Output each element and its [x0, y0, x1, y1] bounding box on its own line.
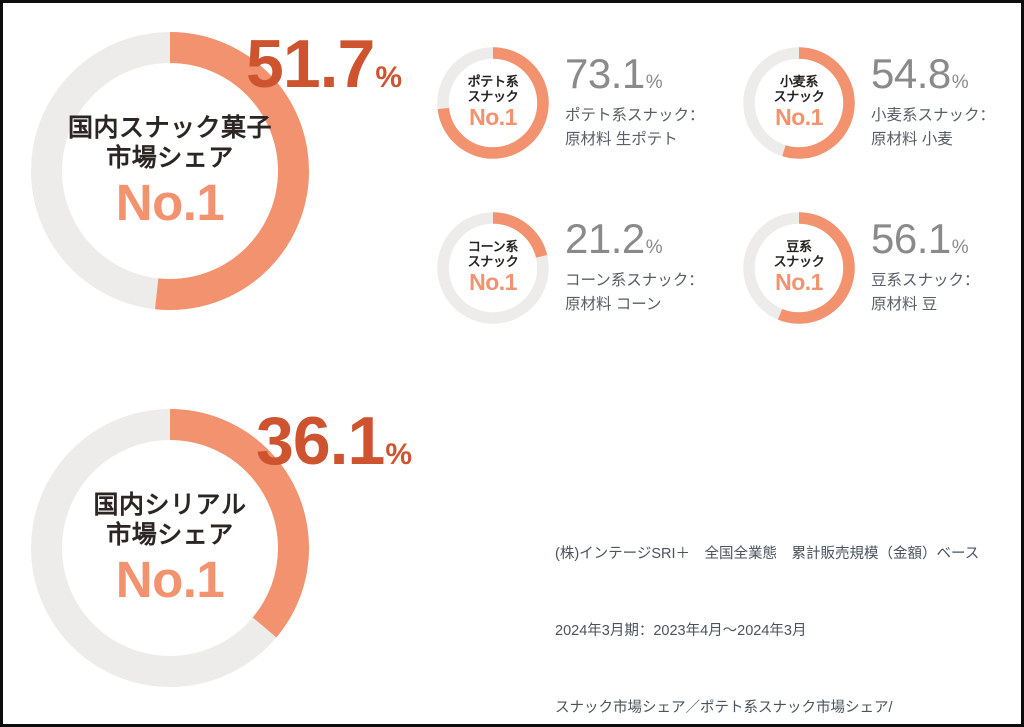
stat-text-corn-snack: 21.2% コーン系スナック： 原材料 コーン: [565, 212, 704, 317]
percent-callout-domestic-snack: 51.7%: [246, 30, 402, 98]
description-line-1: 豆系スナック：: [871, 269, 980, 293]
donut-chart-wheat-snack: 小麦系 スナック No.1: [743, 47, 855, 159]
donut-svg-potato-snack: [437, 47, 549, 159]
percent-symbol: %: [952, 237, 969, 258]
percent-value: 73.1: [565, 50, 645, 97]
description-line-2: 原材料 コーン: [565, 293, 704, 317]
description-line-1: ポテト系スナック：: [565, 104, 705, 128]
stat-unit-bean-snack: 豆系 スナック No.1 56.1% 豆系スナック： 原材料 豆: [743, 212, 980, 324]
stat-unit-corn-snack: コーン系 スナック No.1 21.2% コーン系スナック： 原材料 コーン: [437, 212, 704, 324]
percent-callout-domestic-cereal: 36.1%: [256, 407, 412, 475]
donut-chart-potato-snack: ポテト系 スナック No.1: [437, 47, 549, 159]
infographic-canvas: 国内スナック菓子 市場シェア No.1 51.7% ポテト系 スナック No.1…: [0, 0, 1024, 727]
percent-value: 54.8: [871, 50, 951, 97]
footnote-line-2: 2024年3月期：2023年4月～2024年3月: [555, 619, 979, 645]
description-line-1: コーン系スナック：: [565, 269, 704, 293]
stat-text-potato-snack: 73.1% ポテト系スナック： 原材料 生ポテト: [565, 47, 705, 152]
stat-text-wheat-snack: 54.8% 小麦系スナック： 原材料 小麦: [871, 47, 995, 152]
percent-symbol: %: [646, 237, 663, 258]
percent-value: 36.1: [256, 403, 384, 479]
description-line-2: 原材料 生ポテト: [565, 128, 705, 152]
description-line-2: 原材料 豆: [871, 293, 980, 317]
footnote-block: (株)インテージSRI＋ 全国全業態 累計販売規模（金額）ベース 2024年3月…: [555, 490, 979, 727]
percent-value: 56.1: [871, 215, 951, 262]
donut-chart-corn-snack: コーン系 スナック No.1: [437, 212, 549, 324]
footnote-line-1: (株)インテージSRI＋ 全国全業態 累計販売規模（金額）ベース: [555, 542, 979, 568]
description-corn-snack: コーン系スナック： 原材料 コーン: [565, 269, 704, 317]
percent-symbol: %: [952, 72, 969, 93]
donut-svg-corn-snack: [437, 212, 549, 324]
percent-callout-corn-snack: 21.2%: [565, 218, 704, 260]
description-line-1: 小麦系スナック：: [871, 104, 995, 128]
percent-symbol: %: [646, 72, 663, 93]
stat-unit-potato-snack: ポテト系 スナック No.1 73.1% ポテト系スナック： 原材料 生ポテト: [437, 47, 705, 159]
stat-unit-wheat-snack: 小麦系 スナック No.1 54.8% 小麦系スナック： 原材料 小麦: [743, 47, 995, 159]
description-potato-snack: ポテト系スナック： 原材料 生ポテト: [565, 104, 705, 152]
percent-callout-potato-snack: 73.1%: [565, 53, 705, 95]
description-wheat-snack: 小麦系スナック： 原材料 小麦: [871, 104, 995, 152]
description-bean-snack: 豆系スナック： 原材料 豆: [871, 269, 980, 317]
percent-symbol: %: [385, 438, 412, 471]
footnote-line-3: スナック市場シェア／ポテト系スナック市場シェア/: [555, 696, 979, 722]
percent-callout-wheat-snack: 54.8%: [871, 53, 995, 95]
percent-callout-bean-snack: 56.1%: [871, 218, 980, 260]
donut-svg-bean-snack: [743, 212, 855, 324]
stat-text-bean-snack: 56.1% 豆系スナック： 原材料 豆: [871, 212, 980, 317]
donut-chart-bean-snack: 豆系 スナック No.1: [743, 212, 855, 324]
donut-svg-wheat-snack: [743, 47, 855, 159]
percent-symbol: %: [375, 61, 402, 94]
percent-value: 21.2: [565, 215, 645, 262]
percent-value: 51.7: [246, 26, 374, 102]
description-line-2: 原材料 小麦: [871, 128, 995, 152]
